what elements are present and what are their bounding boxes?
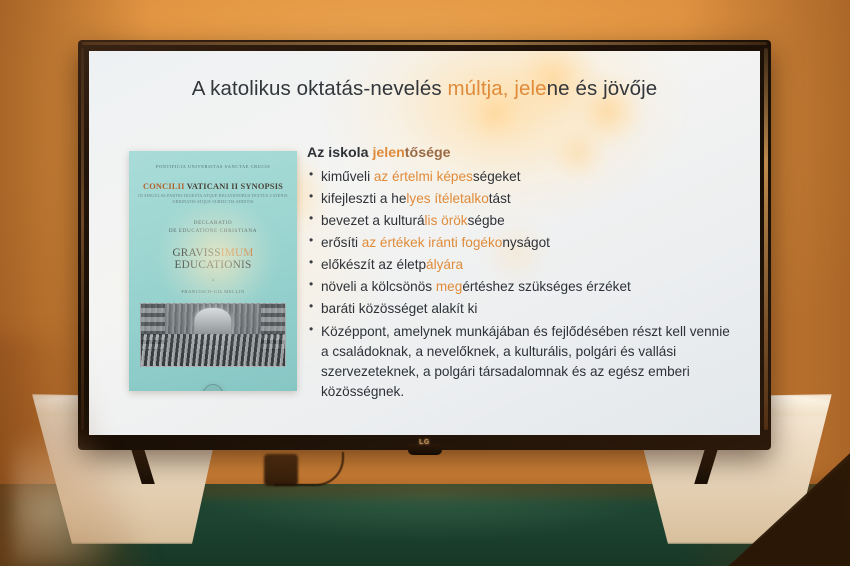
slide-title-highlight: múltja, jele [447,77,546,100]
slide-title-before: A katolikus oktatás-nevelés [192,77,448,100]
bullet-text-b: ályára [426,257,463,272]
bezel-highlight-top [82,42,767,45]
bullet-text-a: erősíti [321,235,362,250]
bullet-text-a: kifejleszti a he [321,191,406,206]
book-author: FRANCISCO-GIL MELLIN [138,289,288,294]
bullet-list: kiműveli az értelmi képességeket kifejle… [307,167,734,402]
book-title-c: EDUCATIONIS [175,259,252,271]
bullet-text-b: lis örök [425,213,468,228]
slide-heading: Az iskola jelentősége [307,145,734,161]
heading-fade: tősége [405,145,451,161]
slide-text-column: Az iskola jelentősége kiműveli az értelm… [307,145,734,404]
book-cover-image: PONTIFICIA UNIVERSITAS SANCTAE CRUCIS CO… [129,151,297,391]
book-title-a: GRAVISS [172,247,220,259]
bullet-text-c: tást [489,191,511,206]
bullet-text-a: baráti közösséget alakít ki [321,301,477,316]
photo-pews [141,334,285,366]
television: LG A katolikus oktatás-nevelés múltja, j… [78,40,771,450]
bullet-text-b: az értékek iránti fogéko [362,235,503,250]
bullet-text-a: bevezet a kulturá [321,213,425,228]
heading-plain: Az iskola [307,145,372,161]
room-background: LG A katolikus oktatás-nevelés múltja, j… [0,0,850,566]
bullet-text-c: értéshez szükséges érzéket [462,279,631,294]
book-series-a: CONCILII [143,182,187,191]
book-publisher: PONTIFICIA UNIVERSITAS SANCTAE CRUCIS [138,164,288,169]
heading-highlight: jelen [372,145,404,161]
list-item: Középpont, amelynek munkájában és fejlőd… [307,322,734,402]
bullet-text-b: az értelmi képes [374,169,473,184]
bullet-text-b: lyes ítéletalko [406,191,488,206]
list-item: bevezet a kulturális örökségbe [307,211,734,231]
book-declaratio-line1: DECLARATIO [138,219,288,227]
bullet-text-c: ségeket [473,169,521,184]
bullet-text-c: ségbe [468,213,505,228]
bullet-text-b: meg [436,279,462,294]
list-item: növeli a kölcsönös megértéshez szükséges… [307,277,734,297]
floor-glow [120,484,740,566]
book-title-b: IMUM [221,247,254,259]
tv-screen: A katolikus oktatás-nevelés múltja, jele… [89,51,760,435]
lg-logo: LG [412,437,438,448]
book-series-title: CONCILII VATICANI II SYNOPSIS [138,182,288,191]
bullet-text-c: nyságot [502,235,550,250]
bezel-highlight-right [764,48,768,430]
book-series-subtitle: IN SINGULAS PARTES DIGESTA ATQUE RELATIO… [138,194,288,206]
book-ornament: a [138,278,288,283]
publisher-emblem-icon [193,377,233,391]
book-series-b: VATICANI II SYNOPSIS [187,182,283,191]
bullet-text-a: kiműveli [321,169,374,184]
book-declaratio-line2: DE EDUCATIONE CHRISTIANA [138,227,288,235]
list-item: baráti közösséget alakít ki [307,299,734,319]
slide-title: A katolikus oktatás-nevelés múltja, jele… [119,77,730,101]
list-item: előkészít az életpályára [307,255,734,275]
list-item: erősíti az értékek iránti fogékonyságot [307,233,734,253]
list-item: kiműveli az értelmi képességeket [307,167,734,187]
book-main-title: GRAVISSIMUM EDUCATIONIS [138,247,288,271]
list-item: kifejleszti a helyes ítéletalkotást [307,189,734,209]
bullet-text-a: növeli a kölcsönös [321,279,436,294]
bullet-text-a: előkészít az életp [321,257,426,272]
tv-bezel: LG A katolikus oktatás-nevelés múltja, j… [78,40,771,450]
foreground-light-left [12,426,132,566]
slide-title-after: ne és jövője [547,77,658,100]
council-assembly-photo [140,303,286,367]
presentation-slide: A katolikus oktatás-nevelés múltja, jele… [89,51,760,435]
